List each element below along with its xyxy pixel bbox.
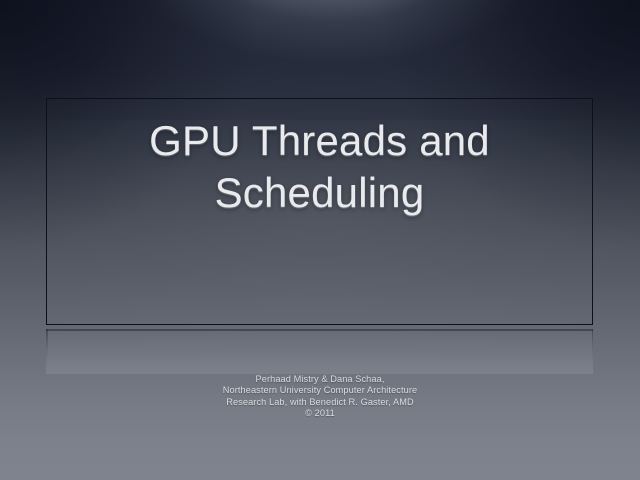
frame-reflection-right-edge: [592, 329, 594, 369]
frame-reflection: [46, 328, 593, 374]
slide-title: GPU Threads and Scheduling: [47, 115, 592, 219]
presentation-title-slide: GPU Threads and Scheduling Scheduling Pe…: [0, 0, 640, 480]
credits-copyright: © 2011: [0, 408, 640, 419]
credits-affiliation-line-2: Research Lab, with Benedict R. Gaster, A…: [0, 397, 640, 408]
frame-reflection-fade: [46, 328, 593, 374]
frame-reflection-left-edge: [46, 329, 48, 369]
frame-reflection-top-edge: [46, 329, 593, 331]
title-line-2: Scheduling: [47, 167, 592, 219]
title-line-1: GPU Threads and: [47, 115, 592, 167]
credits-authors: Perhaad Mistry & Dana Schaa,: [0, 374, 640, 385]
title-text-reflection: Scheduling: [46, 327, 593, 357]
title-frame-box: GPU Threads and Scheduling: [46, 98, 593, 325]
slide-credits: Perhaad Mistry & Dana Schaa, Northeaster…: [0, 374, 640, 420]
credits-affiliation-line-1: Northeastern University Computer Archite…: [0, 385, 640, 396]
